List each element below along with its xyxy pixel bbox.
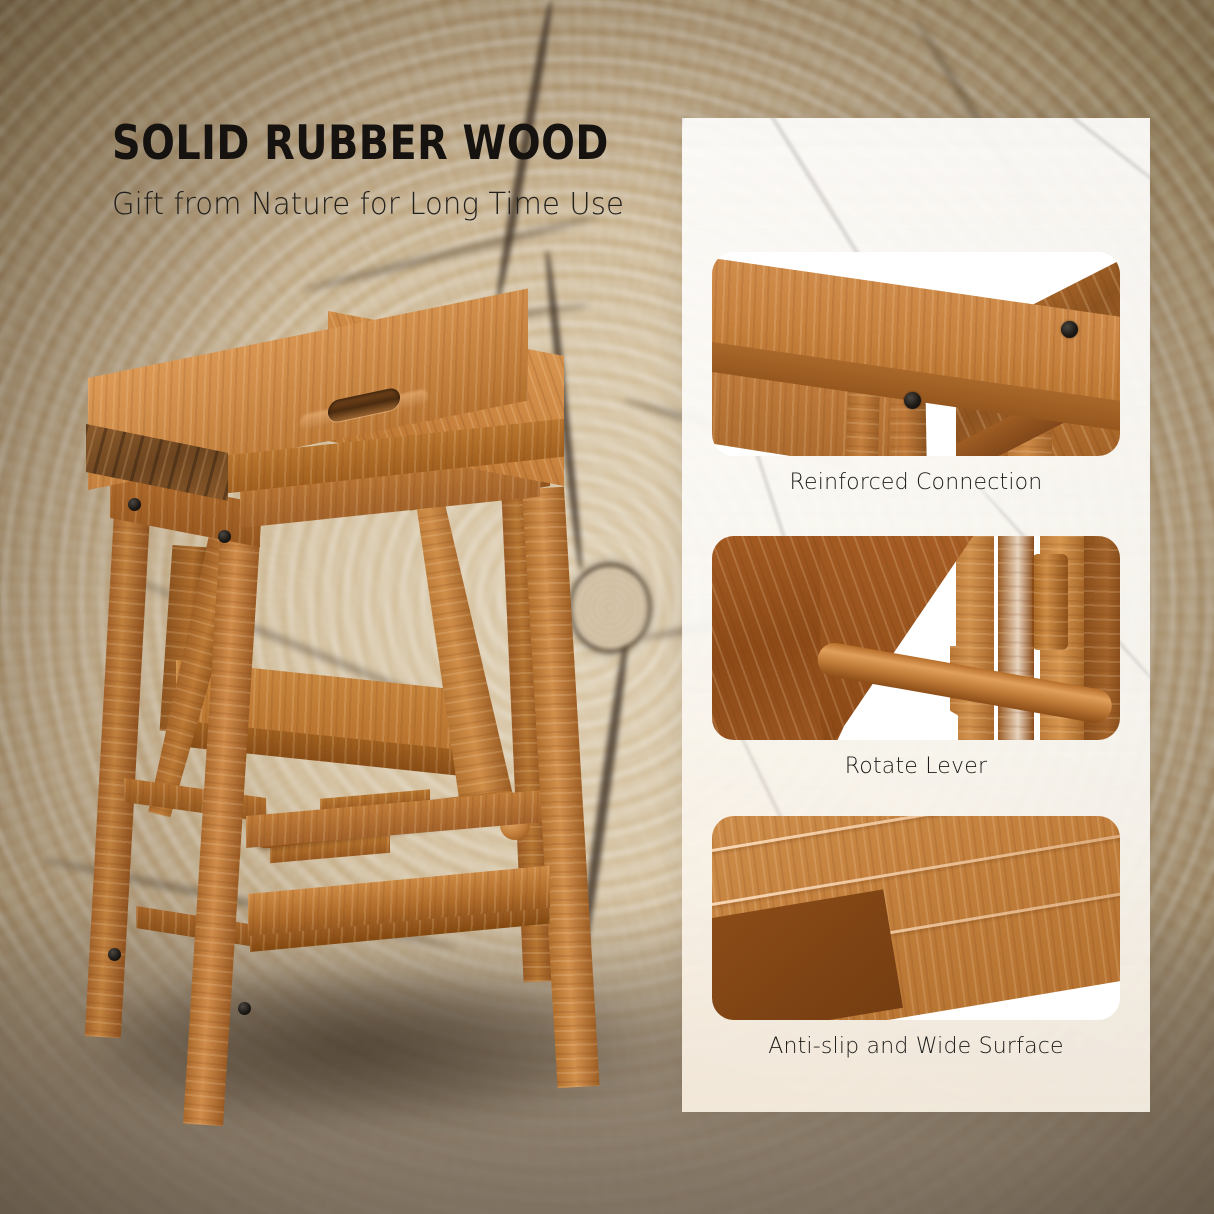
- detail-card-caption: Anti-slip and Wide Surface: [712, 1034, 1120, 1059]
- anti-slip-surface-photo: [712, 816, 1120, 1020]
- page-subtitle: Gift from Nature for Long Time Use: [112, 190, 624, 220]
- stool-bolt-cap: [128, 498, 141, 511]
- detail-panel: Reinforced Connection Rotate Lever: [682, 118, 1150, 1112]
- joint-bolt-cap: [904, 392, 921, 409]
- stool-bolt-cap: [108, 948, 121, 961]
- stool-corner-joint-photo: [712, 252, 1120, 456]
- detail-card-caption: Reinforced Connection: [712, 470, 1120, 495]
- infographic-canvas: SOLID RUBBER WOOD Gift from Nature for L…: [0, 0, 1214, 1214]
- lever-round-dowel-end: [1032, 554, 1068, 650]
- stool-bolt-cap: [238, 1002, 251, 1015]
- stool-bolt-cap: [218, 530, 231, 543]
- rotate-lever-photo: [712, 536, 1120, 740]
- detail-card-list: Reinforced Connection Rotate Lever: [682, 118, 1150, 1112]
- detail-card-rotate-lever: Rotate Lever: [712, 536, 1120, 740]
- detail-card-anti-slip-surface: Anti-slip and Wide Surface: [712, 816, 1120, 1020]
- product-image-step-stool: [70, 370, 630, 1150]
- page-title: SOLID RUBBER WOOD: [112, 120, 609, 167]
- detail-card-caption: Rotate Lever: [712, 754, 1120, 779]
- lever-post-left: [950, 536, 994, 740]
- joint-bolt-cap: [1061, 321, 1078, 338]
- detail-card-reinforced-connection: Reinforced Connection: [712, 252, 1120, 456]
- stool-right-brace: [401, 495, 519, 830]
